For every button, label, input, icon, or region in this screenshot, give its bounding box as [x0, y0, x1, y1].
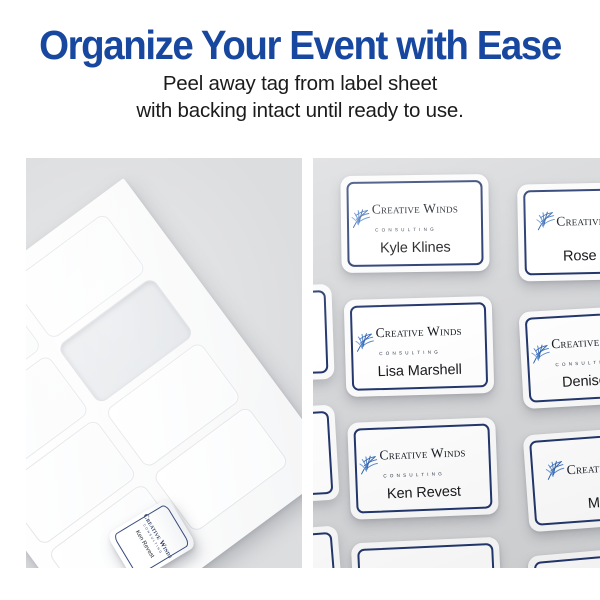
badge-brand: Creative Winds [375, 323, 462, 340]
badge-border: Creative CONSUL [534, 550, 600, 568]
name-badge-partial [313, 405, 340, 507]
header: Organize Your Event with Ease Peel away … [0, 0, 600, 150]
badge-logo: Creative Winds CONSULTING [352, 321, 485, 361]
name-badge-3: Creative Winds CONSULTING Lisa Marshell [344, 296, 495, 397]
badge-wordmark: Creative Winds CONSULTING [372, 199, 481, 237]
badge-logo: Creative Wi CONSULTI [528, 329, 600, 372]
badge-wordmark: Creative Winds CONSULTING [375, 321, 485, 360]
name-badge-4: Creative Wi CONSULTI Denise Mo [518, 304, 600, 409]
page-title: Organize Your Event with Ease [15, 22, 585, 68]
badge-wordmark: Creative Winds CONSULTING [379, 442, 489, 482]
badge-border: Creative CONSUL Rose Fer [523, 188, 600, 276]
name-badges-photo: Creative Winds CONSULTING Kyle Klines [313, 158, 600, 568]
name-badge-7: Creative Winds CONSULTING [351, 537, 503, 568]
badge-border: Creative Winds CONSULTING Kyle Klines [346, 180, 483, 267]
badge-person-name: Rose Fer [526, 247, 600, 266]
subtitle-line-2: with backing intact until ready to use. [0, 97, 600, 124]
badge-border: Creative Winds CONSULTING Lisa Marshell [350, 302, 488, 391]
badge-border: Creative CONSU Matt [529, 431, 600, 526]
badge-tagline: CONSULTING [380, 471, 445, 478]
badge-person-name: Denise Mo [530, 369, 600, 392]
badge-logo: Creative Winds CONSULTING [349, 199, 481, 237]
badge-brand: Creative [556, 212, 600, 228]
badge-tagline: CONSULTI [552, 360, 600, 368]
badge-brand: Creative Winds [379, 444, 466, 462]
name-badge-partial [313, 284, 335, 383]
badge-person-name: Kyle Klines [349, 239, 481, 257]
badge-wordmark: Creative Wi CONSULTI [551, 329, 600, 371]
badge-border [313, 411, 333, 500]
badge-logo: Creative Winds CONSULTING [356, 442, 489, 483]
badge-logo: Creative CONSUL [526, 207, 600, 235]
name-badge-8: Creative CONSUL [527, 544, 600, 568]
palm-frond-logo-icon [356, 452, 382, 478]
badge-border [313, 532, 338, 568]
badge-brand: Creative Winds [383, 564, 470, 568]
palm-frond-logo-icon [533, 209, 559, 235]
page-subtitle: Peel away tag from label sheet with back… [0, 70, 600, 124]
subtitle-line-1: Peel away tag from label sheet [0, 70, 600, 97]
badge-person-name: Matt [535, 490, 600, 516]
badge-logo: Creative CONSU [532, 450, 600, 485]
palm-frond-logo-icon [353, 330, 379, 356]
badge-border: Creative Winds CONSULTING [357, 543, 497, 568]
badge-wordmark: Creative CONSUL [556, 210, 600, 230]
label-sheet-photo: Creative Winds CONSULTING Ken Revest [26, 158, 302, 568]
badge-tagline: CONSULTING [372, 227, 437, 233]
promo-graphic: Organize Your Event with Ease Peel away … [0, 0, 600, 600]
palm-frond-logo-icon [349, 206, 374, 231]
name-badge-2: Creative CONSUL Rose Fer [517, 181, 600, 281]
badge-border: Creative Wi CONSULTI Denise Mo [525, 310, 600, 402]
badge-tagline: CONSULTING [376, 349, 441, 356]
peeled-tag-text: Creative Winds CONSULTING Ken Revest [129, 512, 175, 567]
badge-person-name: Ken Revest [358, 482, 491, 503]
name-badge-5: Creative Winds CONSULTING Ken Revest [347, 417, 499, 520]
name-badge-6: Creative CONSU Matt [523, 425, 600, 533]
badge-brand: Creative Winds [372, 200, 458, 216]
badge-wordmark: Creative Winds CONSULTING [383, 562, 494, 568]
badge-brand: Creative Wi [551, 333, 600, 352]
badge-border: Creative Winds CONSULTING Ken Revest [353, 423, 492, 513]
badge-logo: Creative Winds CONSULTING [360, 562, 493, 568]
name-badge-partial [313, 525, 345, 568]
badge-border [313, 290, 328, 377]
badge-person-name: Lisa Marshell [353, 361, 485, 381]
badge-brand: Creative [566, 458, 600, 476]
badge-wordmark: Creative CONSU [566, 454, 600, 478]
photo-panels: Creative Winds CONSULTING Ken Revest [0, 158, 600, 568]
name-badge-1: Creative Winds CONSULTING Kyle Klines [340, 174, 489, 273]
